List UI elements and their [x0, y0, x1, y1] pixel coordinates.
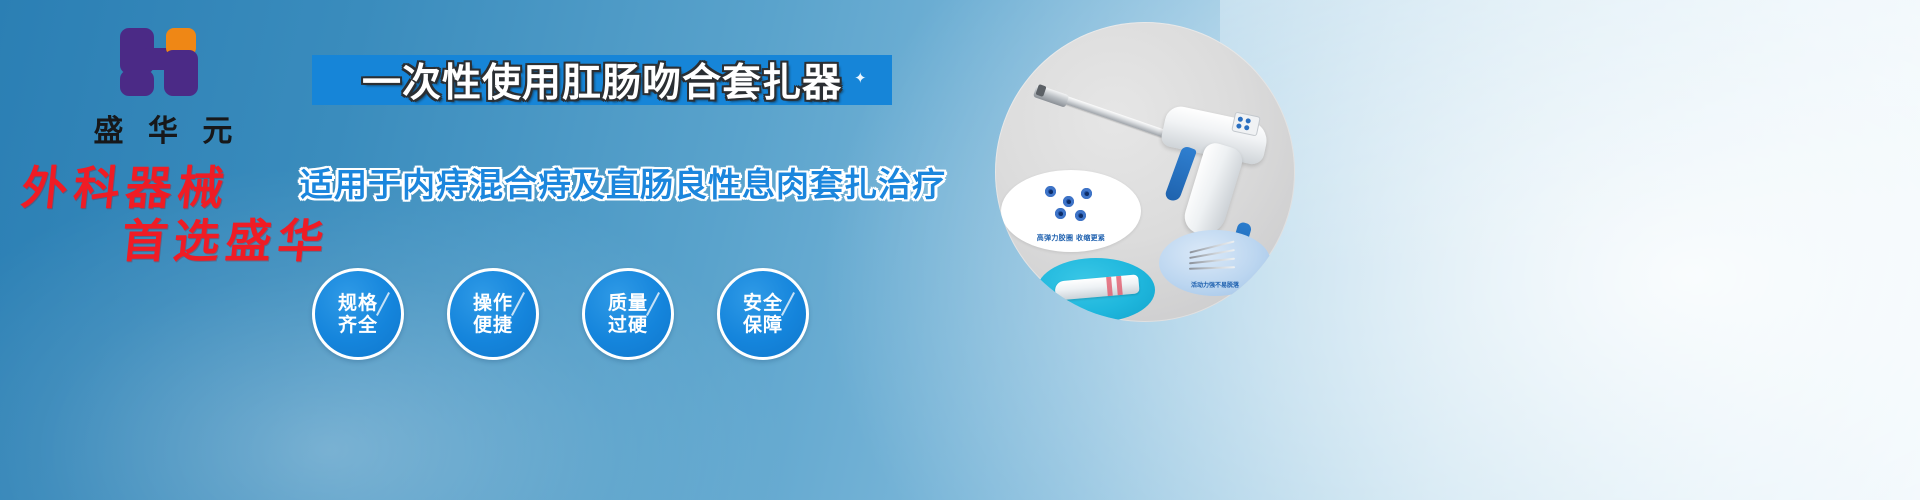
cartridge-part: [1054, 274, 1139, 300]
feature-badge-line1: 操作: [473, 292, 513, 314]
needles-inset: 活动力强不易脱落: [1159, 230, 1271, 296]
shenghuayuan-blocks-logo-icon: [120, 26, 206, 100]
background-sheen-top: [1220, 0, 1920, 500]
product-photo: 高弹力胶圈 收缩更紧 活动力强不易脱落: [995, 22, 1295, 322]
feature-badge-list: 规格 齐全 操作 便捷 质量 过硬 安全 保障: [312, 268, 809, 360]
needles-inset-caption: 活动力强不易脱落: [1159, 280, 1271, 289]
feature-badge-line2: 过硬: [608, 314, 648, 336]
feature-badge-line2: 便捷: [473, 314, 513, 336]
rings-inset-caption: 高弹力胶圈 收缩更紧: [1001, 233, 1141, 243]
sparkle-icon: ✦: [854, 73, 866, 85]
cartridge-inset: [1037, 258, 1155, 322]
feature-badge-line2: 齐全: [338, 314, 378, 336]
feature-badge-line1: 质量: [608, 292, 648, 314]
slash-decoration-icon: [511, 292, 525, 316]
feature-badge-line1: 安全: [743, 292, 783, 314]
rings-inset: 高弹力胶圈 收缩更紧: [1001, 170, 1141, 252]
slash-decoration-icon: [781, 292, 795, 316]
slogan-line-2: 首选盛华: [119, 205, 334, 271]
product-banner: 盛 华 元 外科器械 首选盛华 一次性使用肛肠吻合套扎器 ✦ 适用于内痔混合痔及…: [0, 0, 1920, 500]
subtitle: 适用于内痔混合痔及直肠良性息肉套扎治疗: [300, 158, 900, 206]
page-title: 一次性使用肛肠吻合套扎器: [362, 52, 842, 108]
brand-name: 盛 华 元: [68, 106, 258, 150]
headline-bar: 一次性使用肛肠吻合套扎器 ✦: [312, 55, 892, 105]
slash-decoration-icon: [646, 292, 660, 316]
feature-badge-line2: 保障: [743, 314, 783, 336]
feature-badge-specification[interactable]: 规格 齐全: [312, 268, 404, 360]
slash-decoration-icon: [376, 292, 390, 316]
brand-logo[interactable]: 盛 华 元: [68, 26, 258, 150]
feature-badge-line1: 规格: [338, 292, 378, 314]
feature-badge-quality[interactable]: 质量 过硬: [582, 268, 674, 360]
feature-badge-operation[interactable]: 操作 便捷: [447, 268, 539, 360]
feature-badge-safety[interactable]: 安全 保障: [717, 268, 809, 360]
